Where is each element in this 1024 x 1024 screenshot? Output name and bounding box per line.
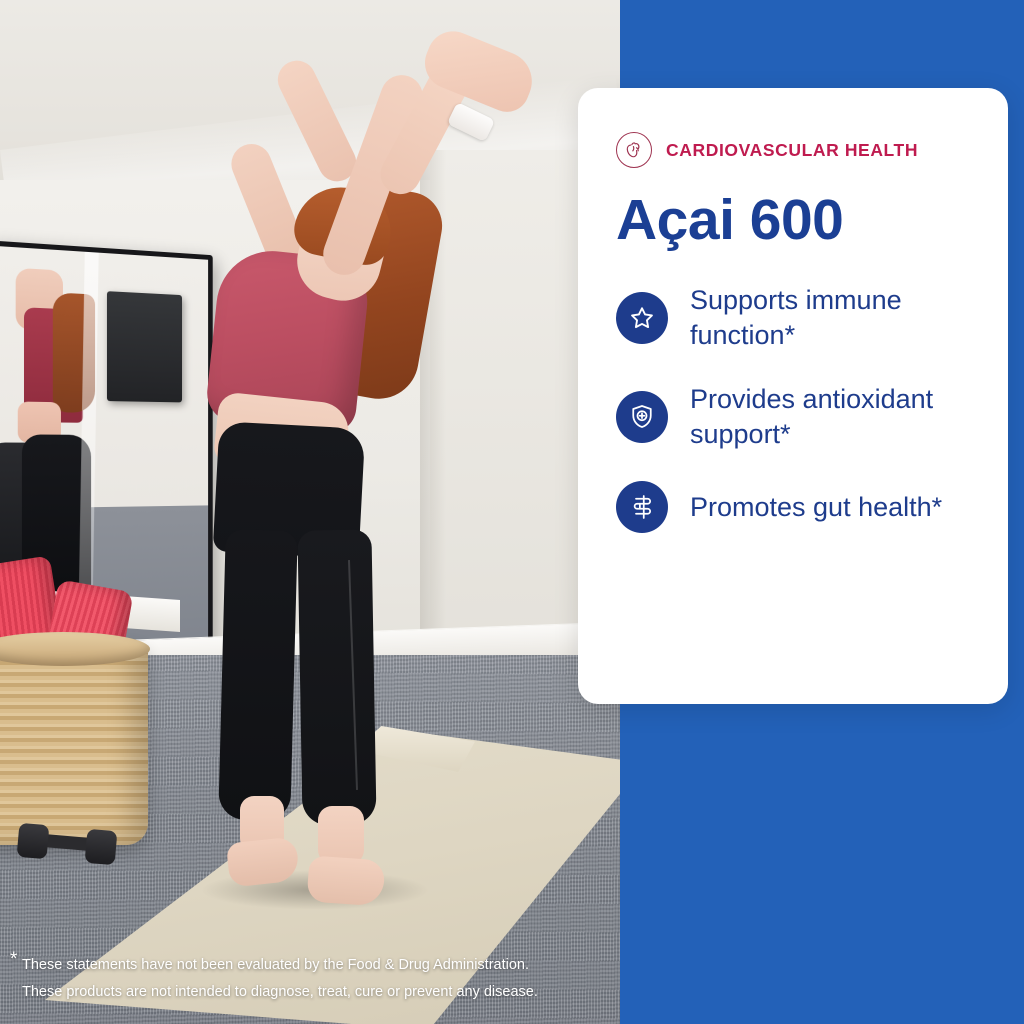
disclaimer-asterisk: * [10, 950, 17, 969]
benefit-item: Supports immune function* [616, 283, 978, 352]
star-icon [616, 292, 668, 344]
benefit-text: Supports immune function* [690, 283, 960, 352]
benefit-text: Provides antioxidant support* [690, 382, 960, 451]
shield-plus-icon [616, 391, 668, 443]
disclaimer-line-2: These products are not intended to diagn… [22, 979, 620, 1006]
product-info-card: CARDIOVASCULAR HEALTH Açai 600 Supports … [578, 88, 1008, 704]
category-eyebrow: CARDIOVASCULAR HEALTH [616, 132, 978, 168]
intestine-icon [616, 481, 668, 533]
right-ankle [318, 806, 364, 864]
dumbbell-head [85, 829, 118, 865]
lifestyle-photo: * These statements have not been evaluat… [0, 0, 620, 1024]
right-leg [297, 529, 376, 825]
disclaimer: * These statements have not been evaluat… [0, 952, 620, 1006]
left-leg [218, 529, 298, 821]
mirror-reflection-tv [107, 291, 182, 402]
dumbbell-head [17, 823, 50, 859]
benefits-list: Supports immune function* Provides antio… [616, 283, 978, 533]
anatomical-heart-icon [616, 132, 652, 168]
right-foot [306, 855, 385, 906]
benefit-item: Provides antioxidant support* [616, 382, 978, 451]
benefit-item: Promotes gut health* [616, 481, 978, 533]
disclaimer-line-1: These statements have not been evaluated… [22, 952, 620, 979]
benefit-text: Promotes gut health* [690, 490, 942, 525]
product-title: Açai 600 [616, 192, 978, 249]
category-label: CARDIOVASCULAR HEALTH [666, 140, 918, 161]
woven-basket [0, 640, 148, 845]
